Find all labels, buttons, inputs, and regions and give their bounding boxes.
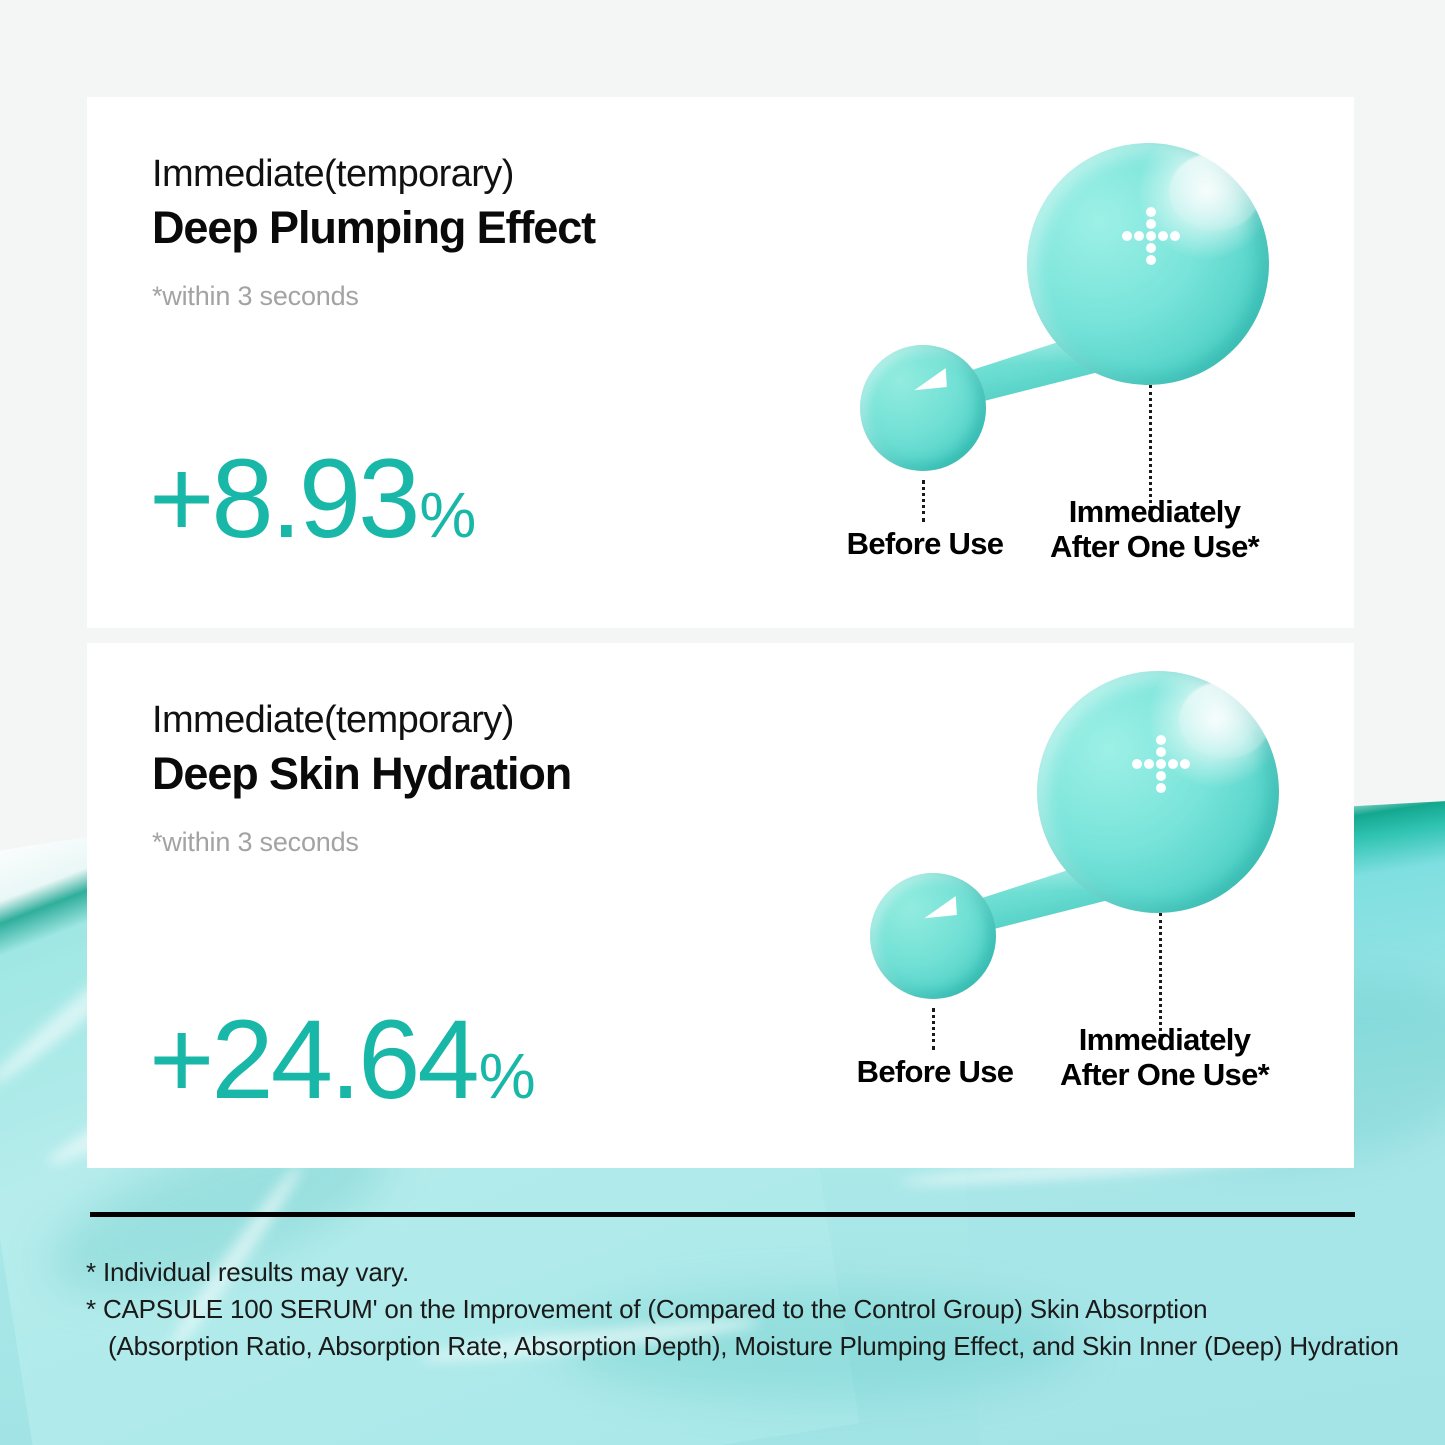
footnote-line-3: (Absorption Ratio, Absorption Rate, Abso… (86, 1328, 1399, 1365)
droplet-label-before: Before Use (820, 527, 1030, 562)
benefit-card-plumping: Immediate(temporary) Deep Plumping Effec… (87, 97, 1354, 628)
card-subnote: *within 3 seconds (152, 281, 595, 312)
droplet-small-before (870, 873, 996, 999)
droplet-label-after: Immediately After One Use* (1032, 495, 1277, 564)
dotted-plus-icon (1132, 735, 1190, 793)
card-subnote: *within 3 seconds (152, 827, 571, 858)
droplet-label-before: Before Use (830, 1055, 1040, 1090)
stat-value: +24.64 (149, 1004, 477, 1116)
footnote-line-1: * Individual results may vary. (86, 1254, 1399, 1291)
card-eyebrow: Immediate(temporary) (152, 152, 595, 197)
card-headline: Deep Skin Hydration (152, 747, 571, 801)
droplet-label-after-line1: Immediately (1069, 494, 1241, 529)
benefit-card-hydration: Immediate(temporary) Deep Skin Hydration… (87, 643, 1354, 1168)
droplet-comparison-graphic: Before Use Immediately After One Use* (832, 663, 1332, 1103)
leader-line-before (932, 1008, 935, 1050)
dotted-plus-icon (1122, 207, 1180, 265)
stat-value: +8.93 (149, 443, 417, 555)
footnote-line-2: * CAPSULE 100 SERUM' on the Improvement … (86, 1291, 1399, 1328)
card-text-block: Immediate(temporary) Deep Plumping Effec… (152, 152, 595, 312)
card-headline: Deep Plumping Effect (152, 201, 595, 255)
droplet-label-after-line1: Immediately (1079, 1022, 1251, 1057)
benefit-cards: Immediate(temporary) Deep Plumping Effec… (87, 97, 1354, 1168)
stat-unit: % (419, 483, 476, 547)
card-eyebrow: Immediate(temporary) (152, 698, 571, 743)
card-stat: +24.64 % (149, 1004, 536, 1116)
droplet-label-after-line2: After One Use* (1060, 1057, 1269, 1092)
footnote-text: * Individual results may vary. * CAPSULE… (86, 1254, 1399, 1366)
droplet-small-before (860, 345, 986, 471)
card-stat: +8.93 % (149, 443, 476, 555)
droplet-label-after-line2: After One Use* (1050, 529, 1259, 564)
droplet-comparison-graphic: Before Use Immediately After One Use* (822, 135, 1322, 575)
droplet-label-after: Immediately After One Use* (1042, 1023, 1287, 1092)
footer-divider-rule (90, 1212, 1355, 1217)
leader-line-before (922, 480, 925, 522)
stat-unit: % (479, 1044, 536, 1108)
card-text-block: Immediate(temporary) Deep Skin Hydration… (152, 698, 571, 858)
